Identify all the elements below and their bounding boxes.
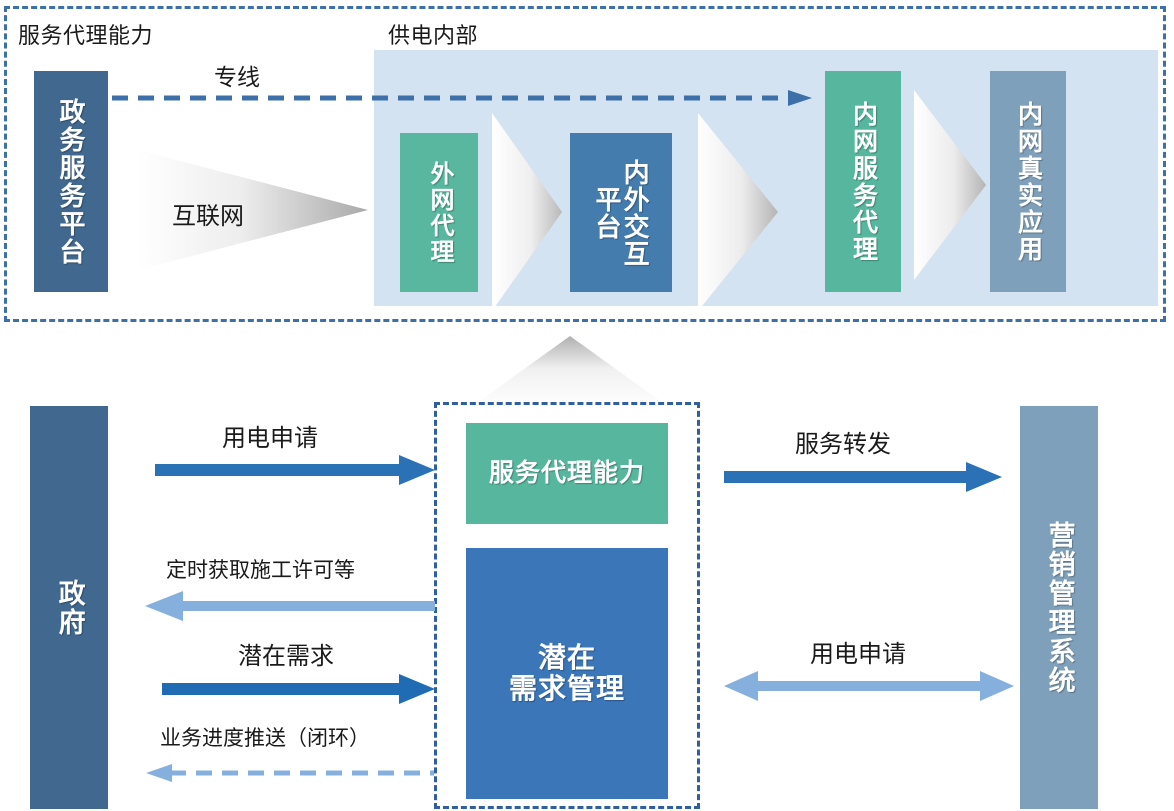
chevron-right-icon-3 [914, 90, 994, 280]
flow-label-power-application-out: 用电申请 [810, 634, 906, 669]
box-potential-demand-management-line1: 潜在 [509, 643, 625, 673]
flow-label-service-forward: 服务转发 [795, 424, 891, 459]
box-intranet-service-proxy-label: 内网服务代理 [850, 101, 877, 263]
box-service-agent-capability-label: 服务代理能力 [489, 460, 645, 487]
box-service-agent-capability[interactable]: 服务代理能力 [466, 423, 668, 524]
box-intranet-real-application[interactable]: 内网真实应用 [990, 71, 1066, 292]
flow-label-progress-push: 业务进度推送（闭环） [160, 722, 370, 752]
flow-arrow-progress-push [146, 762, 434, 784]
box-outer-network-proxy-label: 外网代理 [426, 161, 452, 265]
box-internal-external-exchange-platform-label: 内外交互平台 [593, 148, 649, 278]
diagram-canvas: 服务代理能力 供电内部 [0, 0, 1174, 811]
box-internal-external-exchange-platform[interactable]: 内外交互平台 [570, 133, 672, 292]
flow-label-potential-demand: 潜在需求 [238, 636, 334, 671]
flow-label-construction-permit: 定时获取施工许可等 [166, 554, 355, 584]
box-gov-service-platform-label: 政务服务平台 [57, 98, 85, 266]
box-marketing-management-system[interactable]: 营销管理系统 [1020, 406, 1098, 809]
leased-line-arrow [112, 90, 812, 106]
leased-line-label: 专线 [214, 58, 260, 92]
box-potential-demand-management-label: 潜在 需求管理 [509, 643, 625, 703]
internet-label: 互联网 [172, 196, 244, 231]
box-potential-demand-management[interactable]: 潜在 需求管理 [466, 548, 668, 799]
flow-arrow-power-application-out [724, 670, 1014, 702]
box-outer-network-proxy[interactable]: 外网代理 [400, 133, 478, 292]
flow-arrow-power-application-in [155, 452, 435, 488]
caption-power-supply-internal: 供电内部 [388, 18, 478, 50]
box-marketing-management-system-label: 营销管理系统 [1044, 521, 1073, 695]
box-government-label: 政府 [54, 579, 83, 637]
chevron-right-icon-1 [492, 113, 570, 311]
box-government[interactable]: 政府 [30, 406, 108, 809]
box-intranet-service-proxy[interactable]: 内网服务代理 [825, 71, 901, 292]
box-potential-demand-management-line2: 需求管理 [509, 674, 625, 704]
chevron-right-icon-2 [698, 113, 788, 311]
flow-label-power-application-in: 用电申请 [222, 418, 318, 453]
flow-arrow-construction-permit [145, 590, 435, 622]
chevron-up-icon [470, 336, 670, 408]
box-intranet-real-application-label: 内网真实应用 [1015, 101, 1042, 263]
flow-arrow-service-forward [724, 460, 1002, 494]
box-gov-service-platform[interactable]: 政务服务平台 [34, 71, 108, 292]
flow-arrow-potential-demand [162, 672, 435, 706]
caption-service-agent-capability: 服务代理能力 [18, 18, 153, 50]
